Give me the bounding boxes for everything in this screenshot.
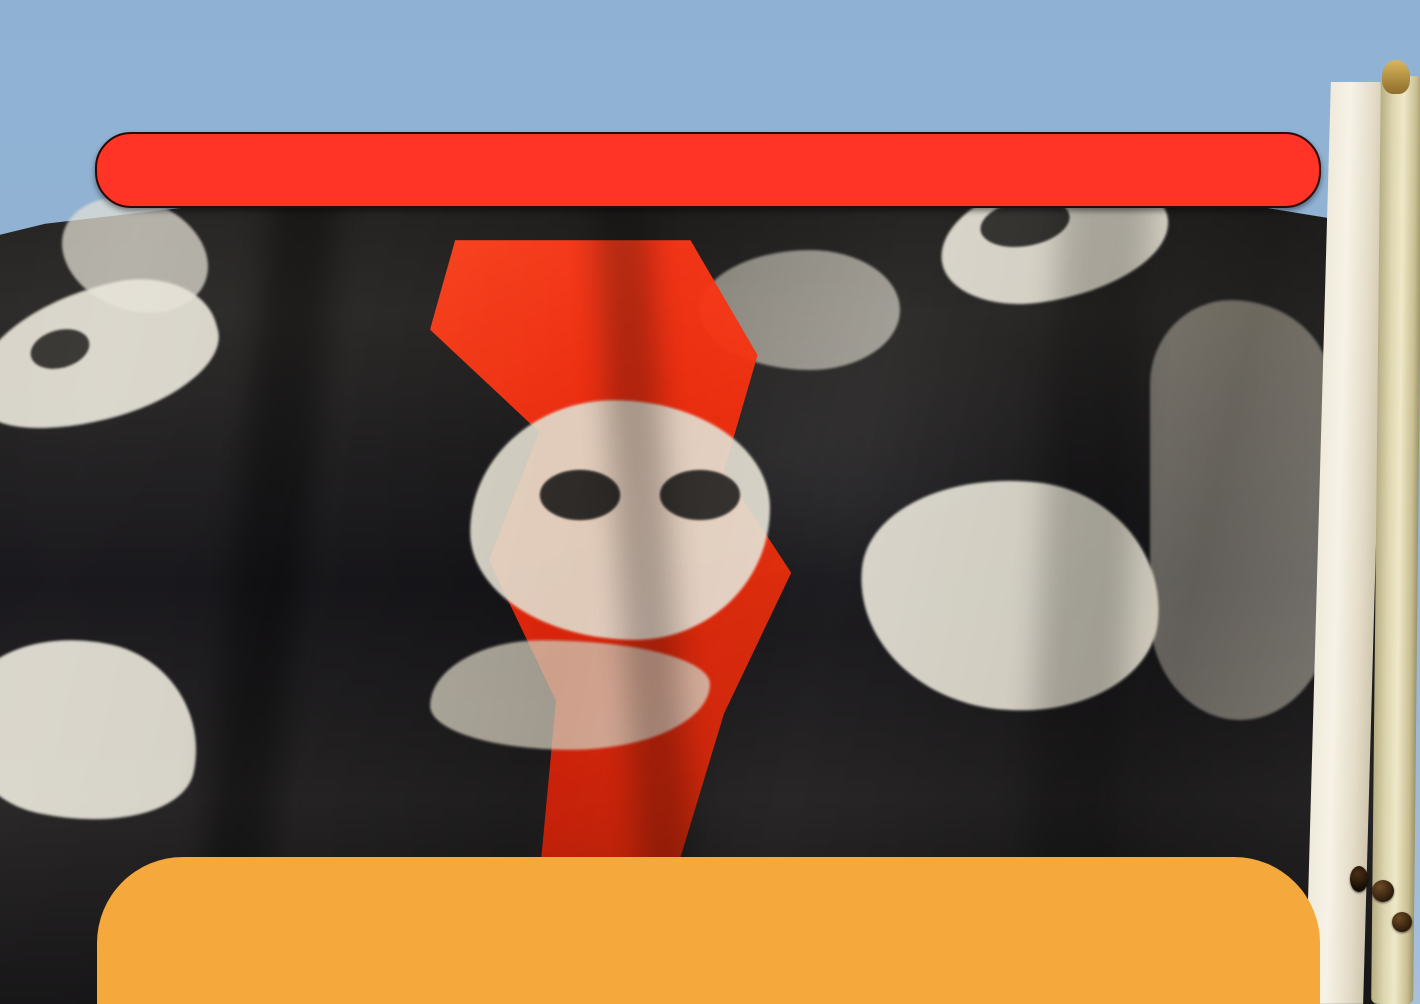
- poster: [0, 0, 1420, 1004]
- disclaimer-banner: [97, 857, 1320, 1004]
- schedule-grid: [0, 0, 1420, 1004]
